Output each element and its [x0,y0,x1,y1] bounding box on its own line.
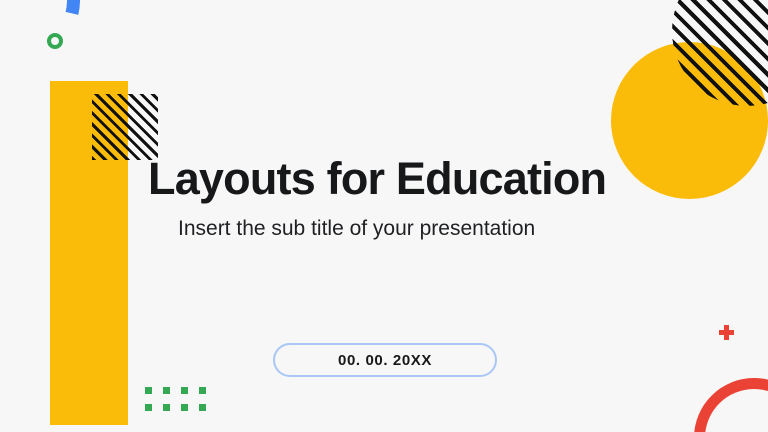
striped-square-decoration [92,94,158,160]
grid-dot [199,387,206,394]
grid-dot [199,404,206,411]
presentation-slide: Layouts for Education Insert the sub tit… [0,0,768,432]
grid-dot [145,387,152,394]
grid-dot [181,387,188,394]
red-arc-decoration [669,353,768,432]
red-plus-icon [719,325,734,340]
grid-dot [163,404,170,411]
slide-subtitle: Insert the sub title of your presentatio… [178,216,638,241]
slide-content: Layouts for Education Insert the sub tit… [148,155,638,241]
slide-title: Layouts for Education [148,155,638,202]
date-badge-label: 00. 00. 20XX [338,352,432,369]
date-badge[interactable]: 00. 00. 20XX [273,343,497,377]
green-dot-grid-decoration [145,387,206,411]
grid-dot [145,404,152,411]
green-ring-decoration [47,33,63,49]
grid-dot [181,404,188,411]
grid-dot [163,387,170,394]
